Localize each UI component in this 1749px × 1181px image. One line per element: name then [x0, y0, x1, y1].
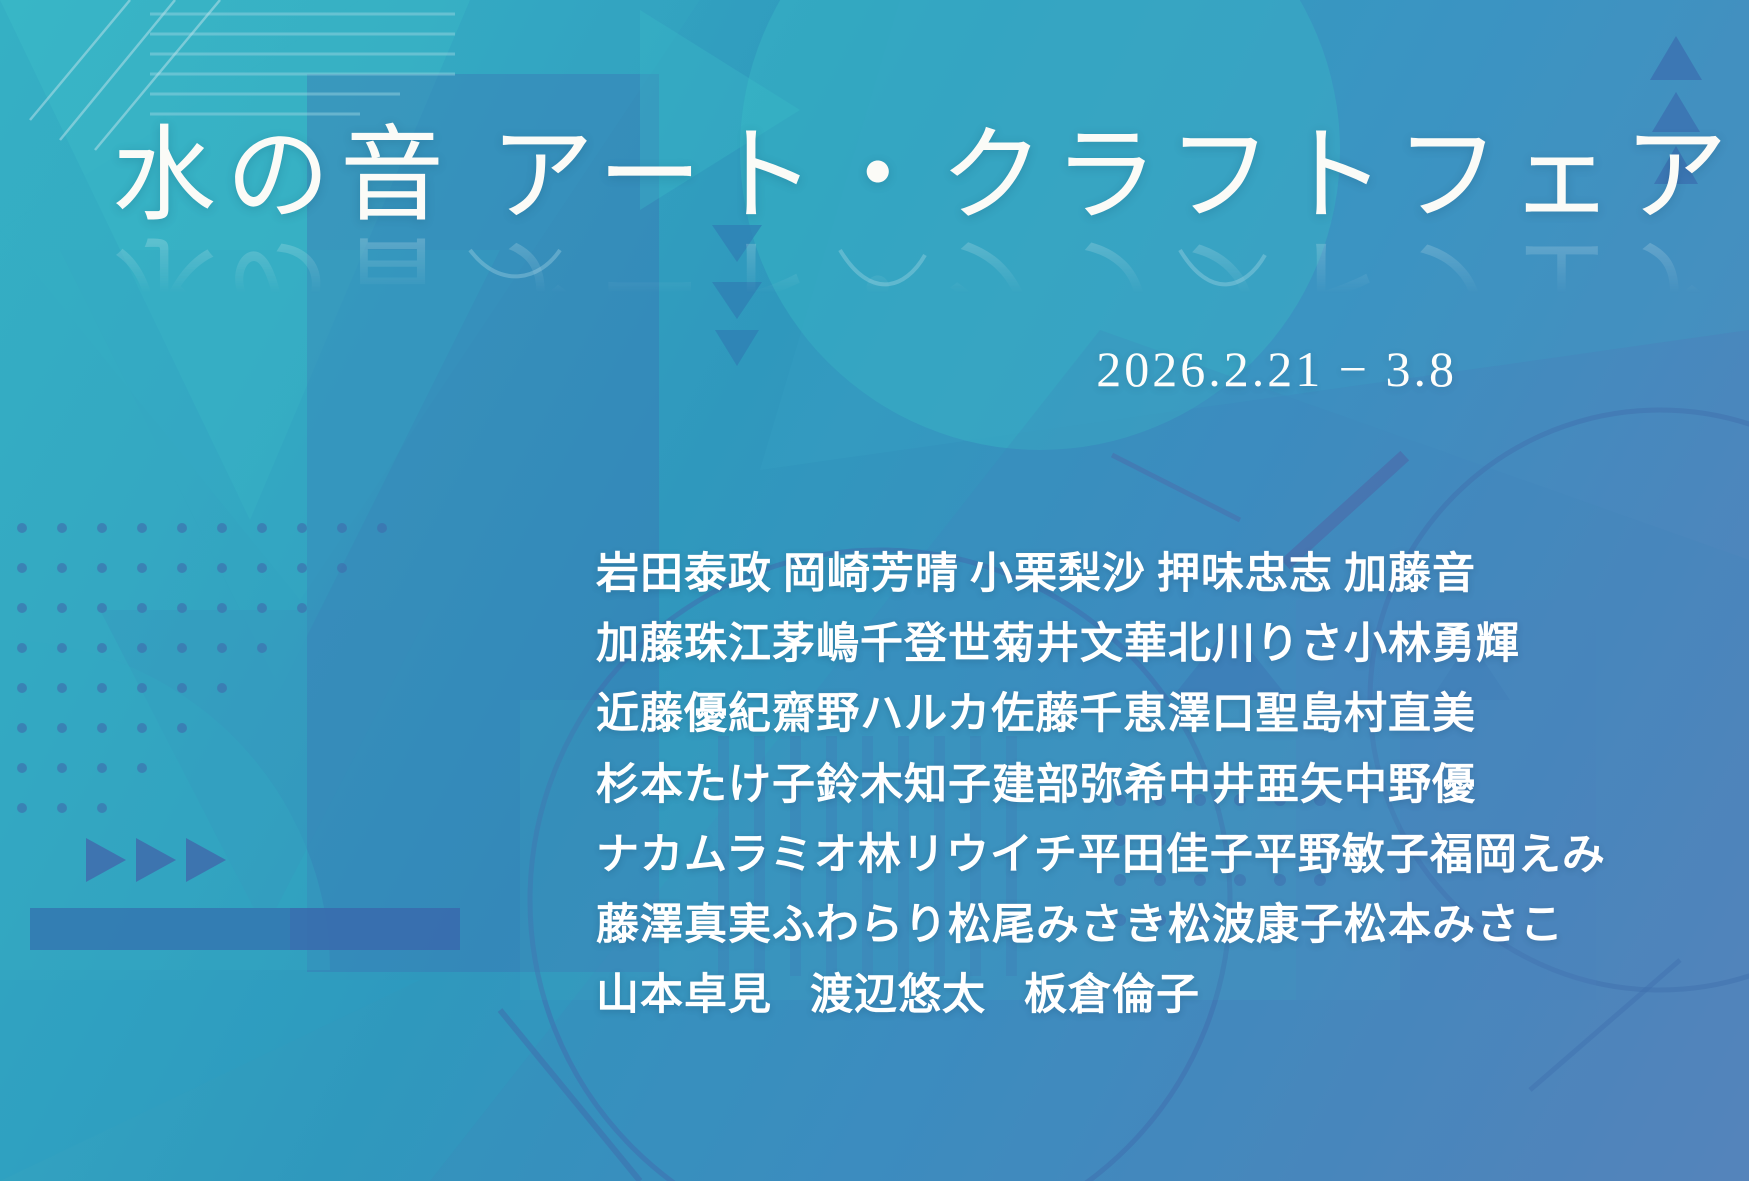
- artist-name-row: 岩田泰政岡崎芳晴小栗梨沙押味忠志加藤音: [596, 548, 1476, 602]
- artist-name: 小栗梨沙: [970, 548, 1146, 602]
- artist-name: 中野優: [1344, 759, 1476, 813]
- artist-name: ふわらり: [772, 899, 948, 953]
- artist-name-row: 山本卓見渡辺悠太板倉倫子: [596, 969, 1476, 1023]
- artist-name: 加藤音: [1344, 548, 1476, 602]
- artist-name: 松波康子: [1168, 899, 1344, 953]
- artist-name: 杉本たけ子: [596, 759, 816, 813]
- artist-name: 建部弥希: [992, 759, 1168, 813]
- artist-name: 藤澤真実: [596, 899, 772, 953]
- artist-name: 渡辺悠太: [810, 969, 986, 1023]
- poster-canvas: 水の音 アート・クラフトフェア 水の音 アート・クラフトフェア 2026.2.2…: [0, 0, 1749, 1181]
- artist-name-row: ナカムラミオ林リウイチ平田佳子平野敏子福岡えみ: [596, 829, 1476, 883]
- artist-name: 松本みさこ: [1344, 899, 1564, 953]
- artist-name: 平田佳子: [1078, 829, 1254, 883]
- artist-name: 鈴木知子: [816, 759, 992, 813]
- artist-name-row: 杉本たけ子鈴木知子建部弥希中井亜矢中野優: [596, 759, 1476, 813]
- artist-name: 近藤優紀: [596, 688, 772, 742]
- artist-name-row: 加藤珠江茅嶋千登世菊井文華北川りさ小林勇輝: [596, 618, 1476, 672]
- artist-name: 小林勇輝: [1344, 618, 1520, 672]
- artist-name: 押味忠志: [1157, 548, 1333, 602]
- event-date: 2026.2.21 − 3.8: [1096, 340, 1457, 398]
- artist-name: 齋野ハルカ: [772, 688, 991, 742]
- artist-name: 中井亜矢: [1168, 759, 1344, 813]
- artist-name: 平野敏子: [1254, 829, 1430, 883]
- artist-name-list: 岩田泰政岡崎芳晴小栗梨沙押味忠志加藤音 加藤珠江茅嶋千登世菊井文華北川りさ小林勇…: [596, 548, 1476, 1039]
- artist-name-row: 藤澤真実ふわらり松尾みさき松波康子松本みさこ: [596, 899, 1476, 953]
- artist-name: 菊井文華: [992, 618, 1168, 672]
- artist-name: 岡崎芳晴: [783, 548, 959, 602]
- artist-name: 松尾みさき: [948, 899, 1168, 953]
- artist-name: 林リウイチ: [858, 829, 1078, 883]
- artist-name: 佐藤千恵: [991, 688, 1167, 742]
- artist-name: ナカムラミオ: [596, 829, 858, 883]
- artist-name: 板倉倫子: [1024, 969, 1200, 1023]
- artist-name: 島村直美: [1300, 688, 1476, 742]
- artist-name: 茅嶋千登世: [772, 618, 992, 672]
- artist-name: 福岡えみ: [1430, 829, 1606, 883]
- artist-name: 岩田泰政: [596, 548, 772, 602]
- artist-name: 澤口聖: [1168, 688, 1300, 742]
- title-block: 水の音 アート・クラフトフェア 水の音 アート・クラフトフェア: [112, 124, 1492, 230]
- artist-name: 加藤珠江: [596, 618, 772, 672]
- poster-title: 水の音 アート・クラフトフェア: [112, 124, 1492, 230]
- artist-name: 北川りさ: [1168, 618, 1344, 672]
- artist-name: 山本卓見: [596, 969, 772, 1023]
- poster-title-reflection: 水の音 アート・クラフトフェア: [112, 228, 1738, 334]
- artist-name-row: 近藤優紀齋野ハルカ佐藤千恵澤口聖島村直美: [596, 688, 1476, 742]
